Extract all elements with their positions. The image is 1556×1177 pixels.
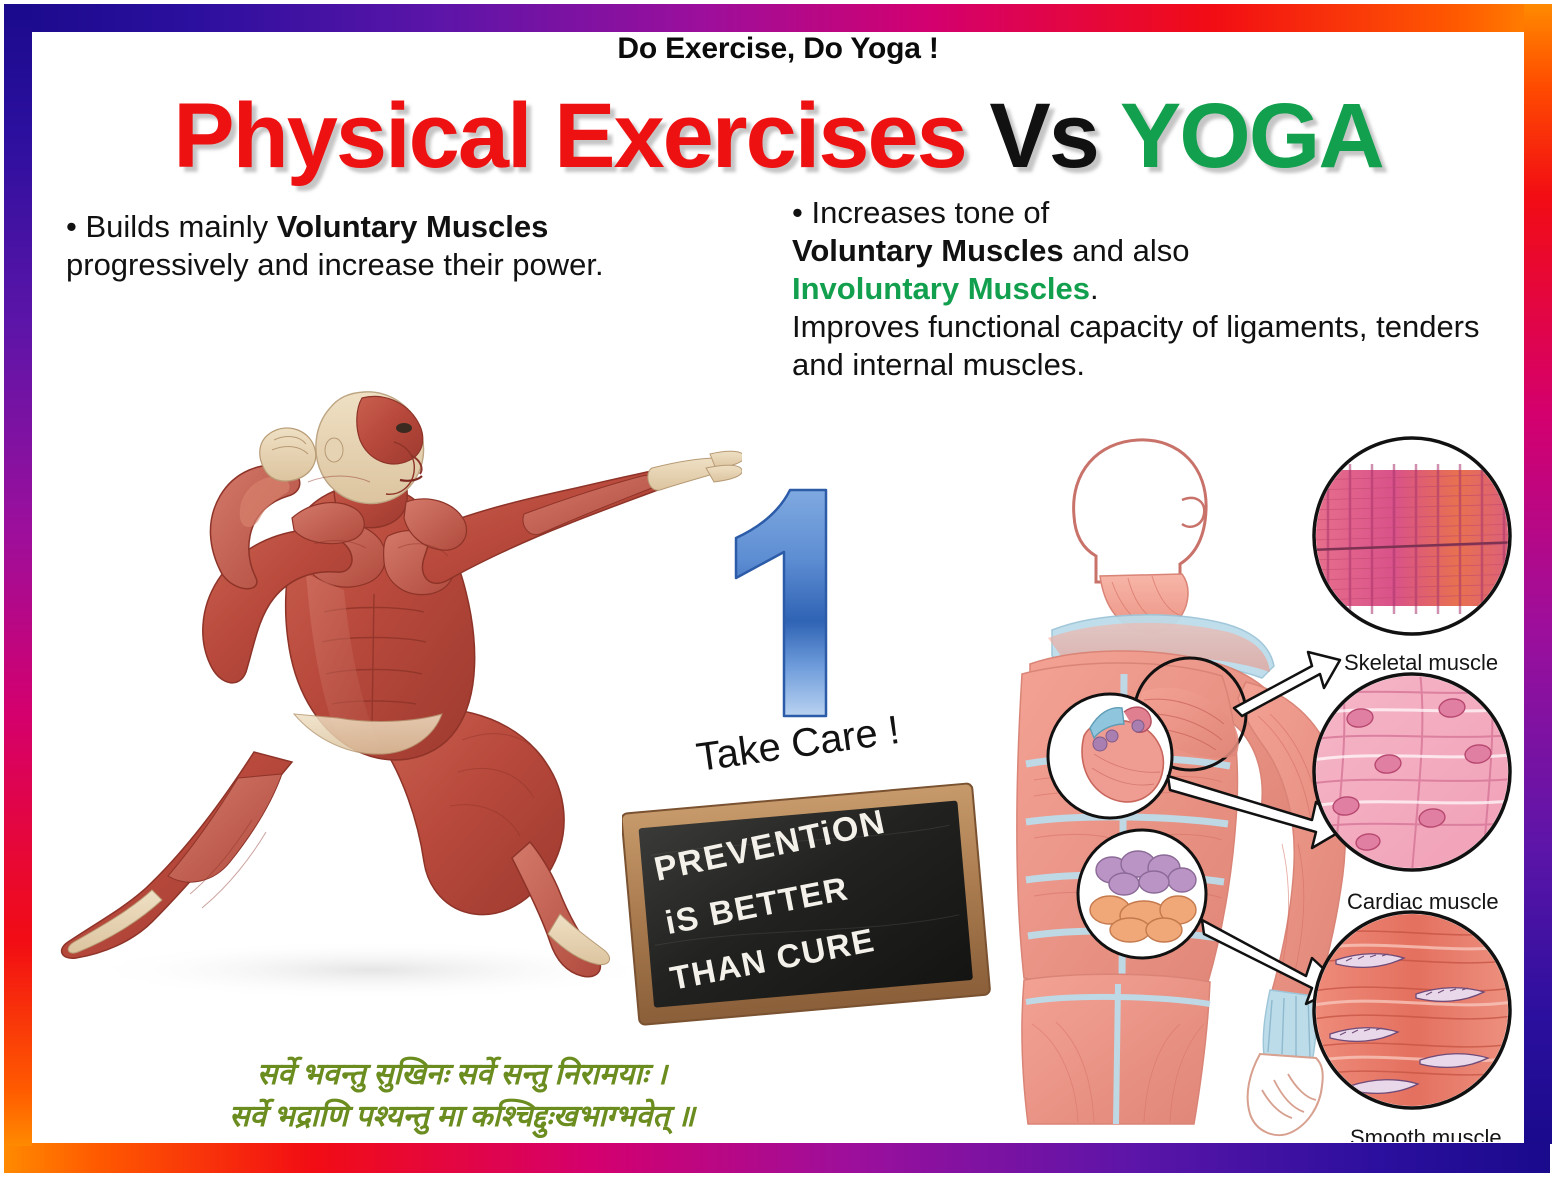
right-bullet-block: • Increases tone of Voluntary Muscles an… xyxy=(792,194,1510,384)
right-bullet-bold-1: Voluntary Muscles xyxy=(792,233,1064,268)
title-part-vs: Vs xyxy=(966,85,1120,187)
frame-left-bar xyxy=(4,4,32,1146)
left-bullet-text-1: Builds mainly xyxy=(85,209,276,244)
title-part-exercises: Physical Exercises xyxy=(173,85,966,187)
label-skeletal-muscle: Skeletal muscle xyxy=(1344,650,1498,676)
numeral-one-icon xyxy=(718,478,888,728)
poster-canvas: Do Exercise, Do Yoga ! Physical Exercise… xyxy=(32,32,1524,1142)
sanskrit-shloka: सर्वे भवन्तु सुखिनः सर्वे सन्तु निरामयाः… xyxy=(92,1054,832,1138)
label-cardiac-muscle: Cardiac muscle xyxy=(1347,889,1499,915)
left-bullet-bold-1: Voluntary Muscles xyxy=(277,209,549,244)
left-bullet-text-2: progressively and increase their power. xyxy=(66,247,604,282)
frame-top-bar xyxy=(6,4,1552,32)
right-bullet-text-2: and also xyxy=(1064,233,1190,268)
page-title: Physical Exercises Vs YOGA xyxy=(32,84,1524,188)
left-bullet-marker: • xyxy=(66,209,85,244)
chalkboard-icon: PREVENTiON iS BETTER THAN CURE xyxy=(622,782,992,1032)
right-bullet-marker: • xyxy=(792,195,811,230)
frame-bottom-bar xyxy=(4,1143,1550,1173)
right-bullet-text-4: Improves functional capacity of ligament… xyxy=(792,309,1480,382)
shloka-line-1: सर्वे भवन्तु सुखिनः सर्वे सन्तु निरामयाः… xyxy=(92,1054,832,1096)
muscle-types-anatomy-diagram-icon xyxy=(1012,424,1524,1142)
right-bullet-text-1: Increases tone of xyxy=(811,195,1049,230)
frame-right-bar xyxy=(1524,4,1552,1144)
left-bullet-block: • Builds mainly Voluntary Muscles progre… xyxy=(66,208,726,284)
title-part-yoga: YOGA xyxy=(1120,85,1383,187)
poster-root: Do Exercise, Do Yoga ! Physical Exercise… xyxy=(0,0,1556,1177)
right-bullet-green-1: Involuntary Muscles xyxy=(792,271,1090,306)
kicker-text: Do Exercise, Do Yoga ! xyxy=(32,32,1524,66)
right-bullet-text-3: . xyxy=(1090,271,1099,306)
label-smooth-muscle: Smooth muscle xyxy=(1350,1125,1502,1142)
shloka-line-2: सर्वे भद्राणि पश्यन्तु मा कश्चिद्दुःखभाग… xyxy=(92,1096,832,1138)
